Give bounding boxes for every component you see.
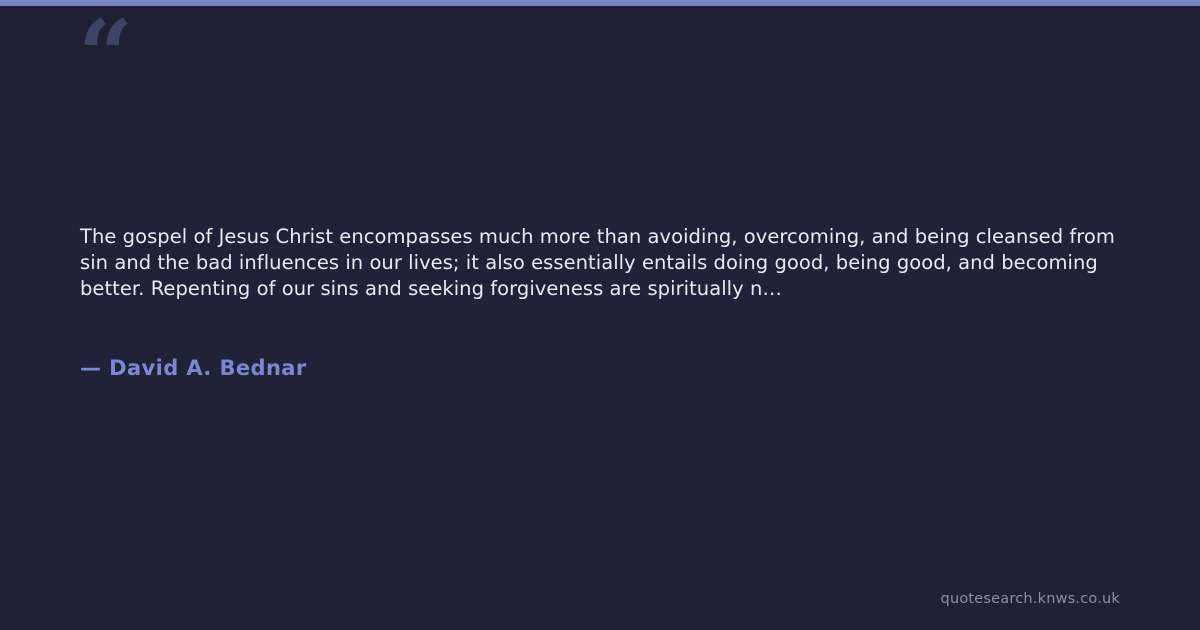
quote-text: The gospel of Jesus Christ encompasses m… — [80, 224, 1124, 302]
quote-author: — David A. Bednar — [80, 354, 307, 382]
site-url: quotesearch.knws.co.uk — [941, 589, 1120, 609]
open-quote-icon: “ — [78, 8, 131, 104]
quote-card: “ The gospel of Jesus Christ encompasses… — [0, 0, 1200, 630]
quote-block: The gospel of Jesus Christ encompasses m… — [80, 224, 1124, 302]
card-content: “ The gospel of Jesus Christ encompasses… — [0, 0, 1200, 630]
